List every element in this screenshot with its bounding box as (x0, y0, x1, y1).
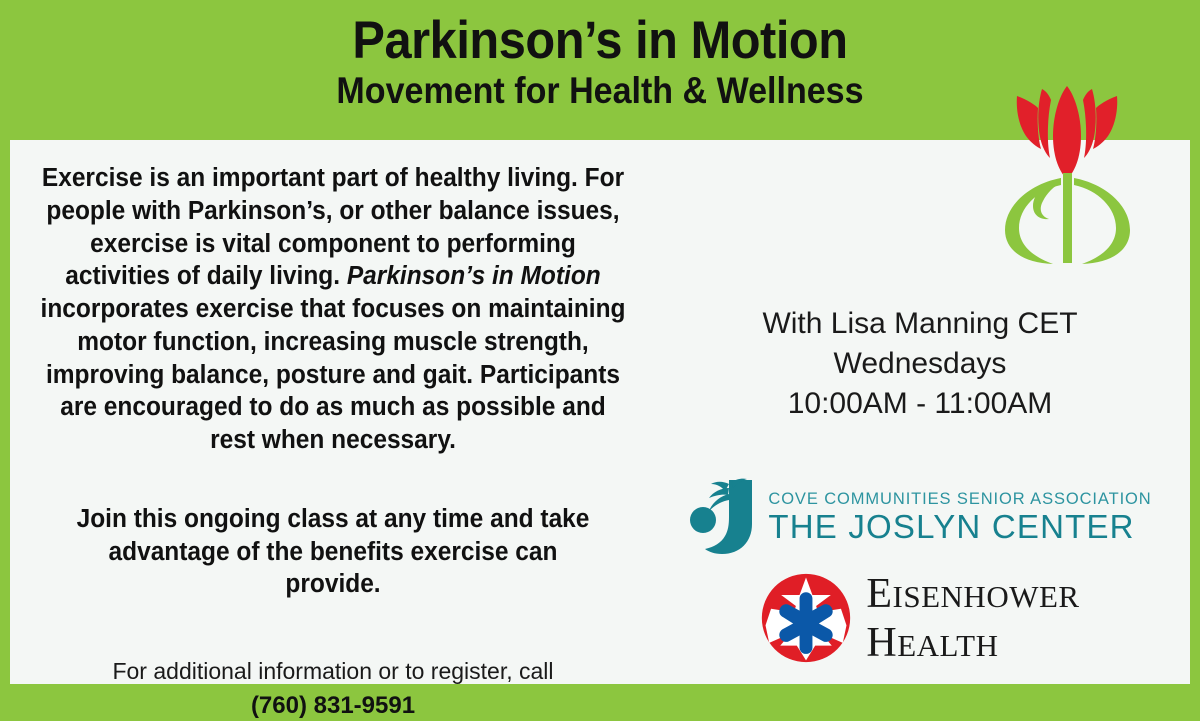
join-class-paragraph: Join this ongoing class at any time and … (40, 503, 626, 601)
eisenhower-star-mark (760, 572, 852, 664)
joslyn-palm-mark (688, 478, 760, 556)
eisenhower-health-logo: EISENHOWER HEALTH (660, 568, 1180, 668)
flyer-poster: Parkinson’s in Motion Movement for Healt… (0, 0, 1200, 698)
eisenhower-line1: EISENHOWER (866, 573, 1079, 615)
page-title: Parkinson’s in Motion (48, 14, 1152, 68)
instructor-line: With Lisa Manning CET (650, 304, 1190, 344)
eisenhower-line1-cap: E (866, 571, 892, 617)
joslyn-wordmark: COVE COMMUNITIES SENIOR ASSOCIATION THE … (768, 490, 1151, 545)
joslyn-bottom-line: THE JOSLYN CENTER (768, 509, 1134, 545)
page-subtitle: Movement for Health & Wellness (48, 72, 1152, 111)
phone-number[interactable]: (760) 831-9591 (28, 692, 638, 721)
eisenhower-line2-cap: H (866, 620, 897, 666)
eisenhower-line2-rest: EALTH (897, 628, 998, 663)
schedule-block: With Lisa Manning CET Wednesdays 10:00AM… (650, 304, 1190, 424)
eisenhower-line1-rest: ISENHOWER (893, 579, 1080, 614)
day-line: Wednesdays (650, 344, 1190, 384)
time-line: 10:00AM - 11:00AM (650, 384, 1190, 424)
parkinsons-tulip-logo (995, 78, 1140, 266)
program-name-italic: Parkinson’s in Motion (347, 262, 601, 290)
left-text-column: Exercise is an important part of healthy… (28, 162, 638, 721)
registration-text: For additional information or to registe… (28, 657, 638, 686)
eisenhower-line2: HEALTH (866, 622, 998, 664)
description-paragraph: Exercise is an important part of healthy… (40, 162, 626, 457)
eisenhower-wordmark: EISENHOWER HEALTH (866, 573, 1079, 664)
registration-block: For additional information or to registe… (28, 657, 638, 721)
description-part2: incorporates exercise that focuses on ma… (41, 295, 626, 454)
joslyn-center-logo: COVE COMMUNITIES SENIOR ASSOCIATION THE … (660, 472, 1180, 562)
joslyn-top-line: COVE COMMUNITIES SENIOR ASSOCIATION (768, 490, 1151, 508)
